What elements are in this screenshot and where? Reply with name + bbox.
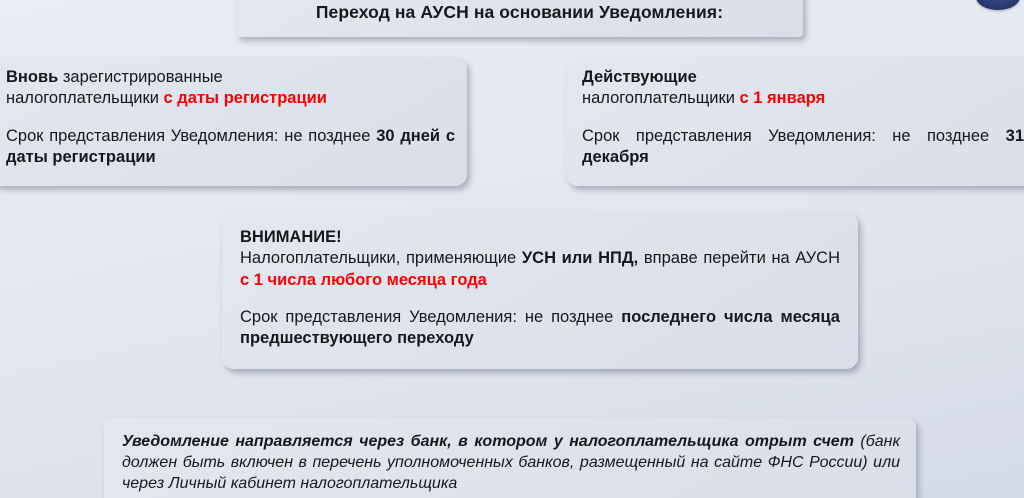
existing-subject: налогоплательщики: [582, 89, 740, 107]
card-bank-notice: Уведомление направляется через банк, в к…: [104, 418, 916, 498]
existing-headline-bold: Действующие: [582, 68, 697, 86]
bank-notice-lead: Уведомление направляется через банк, в к…: [122, 433, 854, 450]
attention-deadline: Срок представления Уведомления: не поздн…: [240, 307, 840, 350]
existing-deadline-label: Срок представления Уведомления: не поздн…: [582, 127, 1006, 145]
attention-deadline-label: Срок представления Уведомления: не поздн…: [240, 308, 621, 326]
existing-deadline: Срок представления Уведомления: не поздн…: [582, 126, 1024, 169]
attention-body-regimes: УСН или НПД,: [522, 249, 638, 267]
newly-registered-deadline: Срок представления Уведомления: не поздн…: [6, 126, 455, 169]
spacer: [582, 110, 1024, 126]
attention-body-part2: вправе перейти на АУСН: [638, 249, 840, 267]
attention-deadline-value-1: последнего: [621, 308, 716, 326]
newly-registered-subject: налогоплательщики: [6, 89, 164, 107]
newly-registered-headline-rest: зарегистрированные: [58, 68, 222, 86]
attention-heading-text: ВНИМАНИЕ!: [240, 228, 342, 246]
attention-body: Налогоплательщики, применяющие УСН или Н…: [240, 248, 840, 291]
header-banner: Переход на АУСН на основании Уведомления…: [236, 0, 803, 37]
slide-canvas: Переход на АУСН на основании Уведомления…: [0, 0, 1024, 498]
card-newly-registered-taxpayers: Вновь зарегистрированные налогоплательщи…: [0, 57, 467, 186]
existing-highlight: с 1 января: [740, 89, 826, 107]
attention-heading: ВНИМАНИЕ!: [240, 227, 840, 248]
newly-registered-highlight: с даты регистрации: [164, 89, 327, 107]
attention-body-part1: Налогоплательщики, применяющие: [240, 249, 522, 267]
existing-headline: Действующие налогоплательщики с 1 января: [582, 67, 1024, 110]
card-attention: ВНИМАНИЕ! Налогоплательщики, применяющие…: [222, 212, 858, 369]
page-title: Переход на АУСН на основании Уведомления…: [316, 2, 723, 23]
bank-notice-text: Уведомление направляется через банк, в к…: [122, 432, 900, 494]
card-existing-taxpayers: Действующие налогоплательщики с 1 января…: [566, 57, 1024, 186]
spacer: [240, 291, 840, 307]
newly-registered-headline: Вновь зарегистрированные налогоплательщи…: [6, 67, 455, 110]
newly-registered-deadline-label: Срок представления Уведомления: не поздн…: [6, 127, 376, 145]
decorative-ellipse-icon: [976, 0, 1020, 10]
spacer: [6, 110, 455, 126]
attention-body-highlight: с 1 числа любого месяца года: [240, 271, 487, 289]
newly-registered-headline-bold: Вновь: [6, 68, 58, 86]
